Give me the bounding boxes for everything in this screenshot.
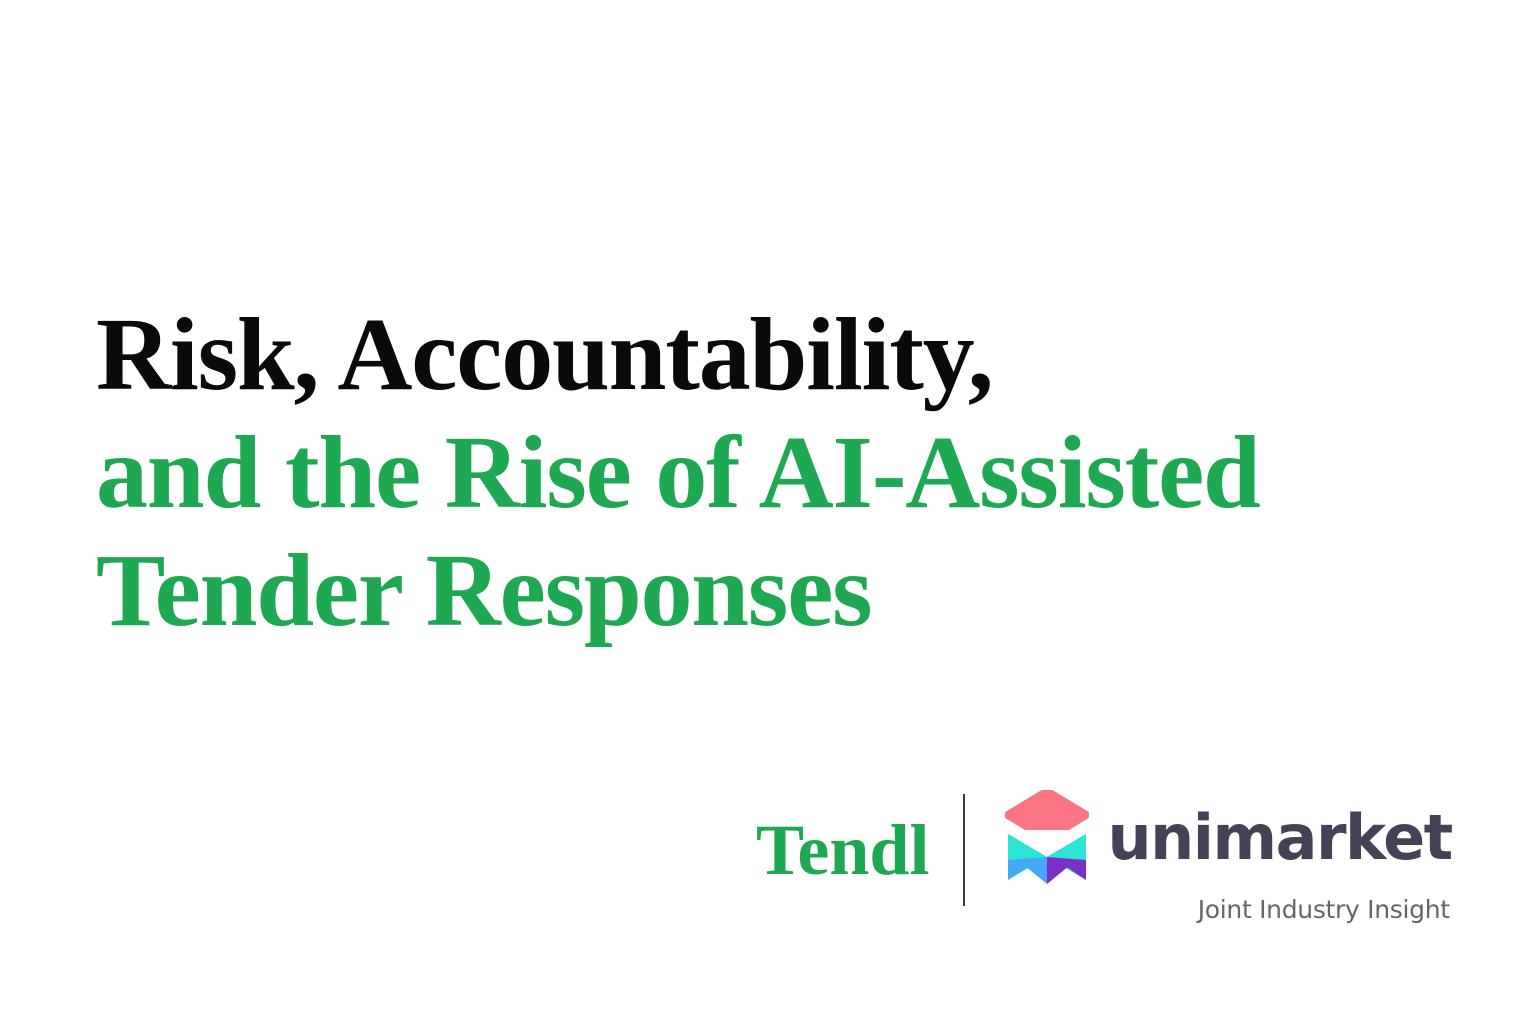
lockup-divider (963, 794, 965, 906)
headline-line-1: Risk, Accountability, (96, 296, 1416, 414)
unimarket-primary-row: unimarket (1005, 790, 1451, 886)
tendl-wordmark: Tendl (756, 814, 929, 886)
unimarket-logo: unimarket Joint Industry Insight (1005, 790, 1451, 924)
title-slide: Risk, Accountability, and the Rise of AI… (0, 0, 1536, 1024)
tendl-logo: Tendl (756, 790, 929, 910)
page-title: Risk, Accountability, and the Rise of AI… (96, 296, 1416, 650)
unimarket-wordmark: unimarket (1107, 807, 1451, 869)
unimarket-cube-icon (1005, 790, 1089, 886)
unimarket-tagline: Joint Industry Insight (1198, 896, 1450, 924)
headline-line-3: Tender Responses (96, 532, 1416, 650)
headline-line-2: and the Rise of AI-Assisted (96, 414, 1416, 532)
logo-lockup: Tendl (756, 790, 1452, 930)
unimarket-cube-svg (1005, 790, 1089, 886)
